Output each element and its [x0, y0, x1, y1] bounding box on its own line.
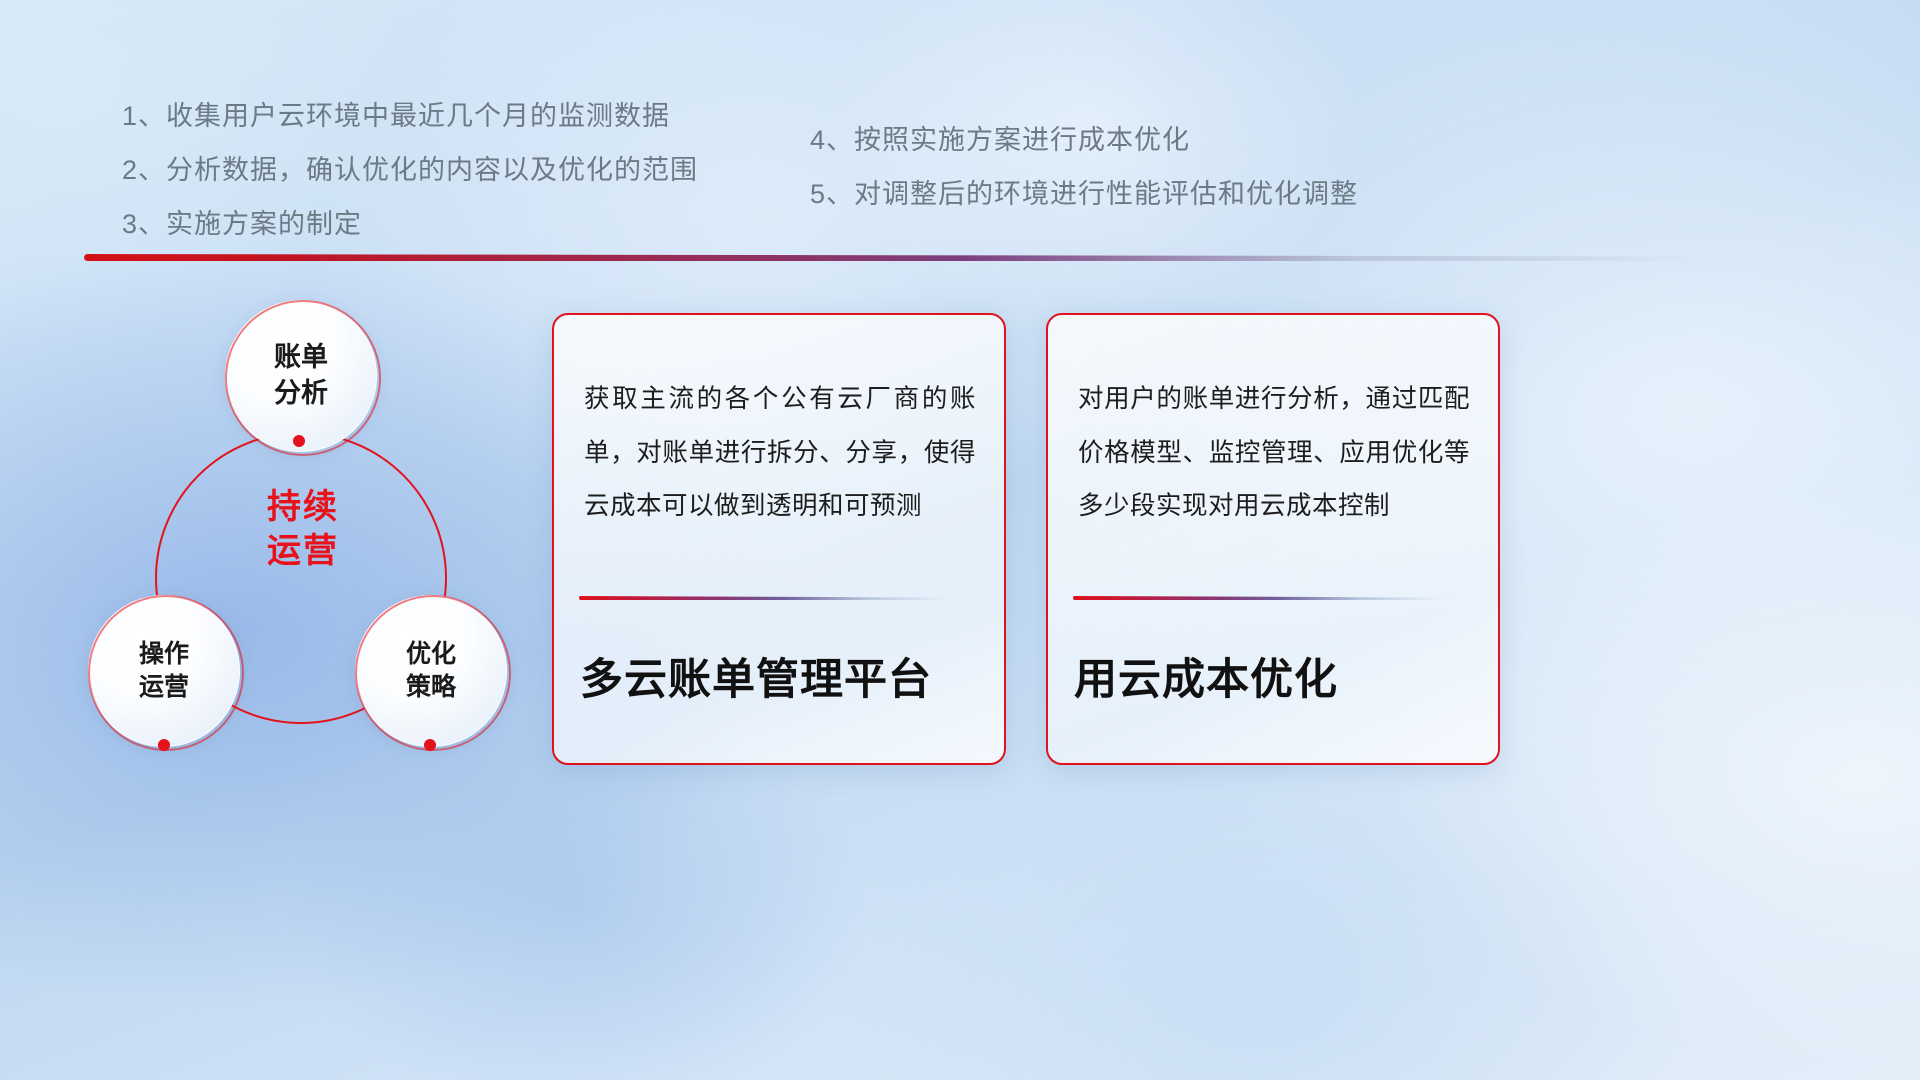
card-divider [1073, 596, 1463, 600]
card-multi-cloud-billing[interactable]: 获取主流的各个公有云厂商的账单，对账单进行拆分、分享，使得云成本可以做到透明和可… [552, 313, 1006, 765]
center-label-line2: 运营 [228, 529, 378, 573]
step-item-2: 2、分析数据，确认优化的内容以及优化的范围 [122, 154, 698, 188]
card-body-text: 对用户的账单进行分析，通过匹配价格模型、监控管理、应用优化等多少段实现对用云成本… [1078, 373, 1470, 534]
diagram-center-label: 持续 运营 [228, 485, 378, 573]
steps-left-column: 1、收集用户云环境中最近几个月的监测数据 2、分析数据，确认优化的内容以及优化的… [122, 100, 698, 261]
card-title: 多云账单管理平台 [580, 645, 932, 707]
continuous-operation-diagram: 账单 分析 操作 运营 优化 策略 持续 运营 [80, 290, 550, 760]
step-item-3: 3、实施方案的制定 [122, 208, 698, 242]
junction-dot-top [293, 435, 305, 447]
step-item-1: 1、收集用户云环境中最近几个月的监测数据 [122, 100, 698, 134]
bubble-outline-operations [88, 595, 244, 751]
card-divider [579, 596, 969, 600]
card-cloud-cost-optimization[interactable]: 对用户的账单进行分析，通过匹配价格模型、监控管理、应用优化等多少段实现对用云成本… [1046, 313, 1500, 765]
junction-dot-bottom-left [158, 739, 170, 751]
card-body-text: 获取主流的各个公有云厂商的账单，对账单进行拆分、分享，使得云成本可以做到透明和可… [584, 373, 976, 534]
steps-right-column: 4、按照实施方案进行成本优化 5、对调整后的环境进行性能评估和优化调整 [810, 124, 1358, 232]
junction-dot-bottom-right [424, 739, 436, 751]
center-label-line1: 持续 [228, 485, 378, 529]
card-title: 用云成本优化 [1074, 645, 1338, 707]
step-item-5: 5、对调整后的环境进行性能评估和优化调整 [810, 178, 1358, 212]
step-item-4: 4、按照实施方案进行成本优化 [810, 124, 1358, 158]
bubble-outline-bill-analysis [225, 300, 381, 456]
bubble-outline-optimization-strategy [355, 595, 511, 751]
